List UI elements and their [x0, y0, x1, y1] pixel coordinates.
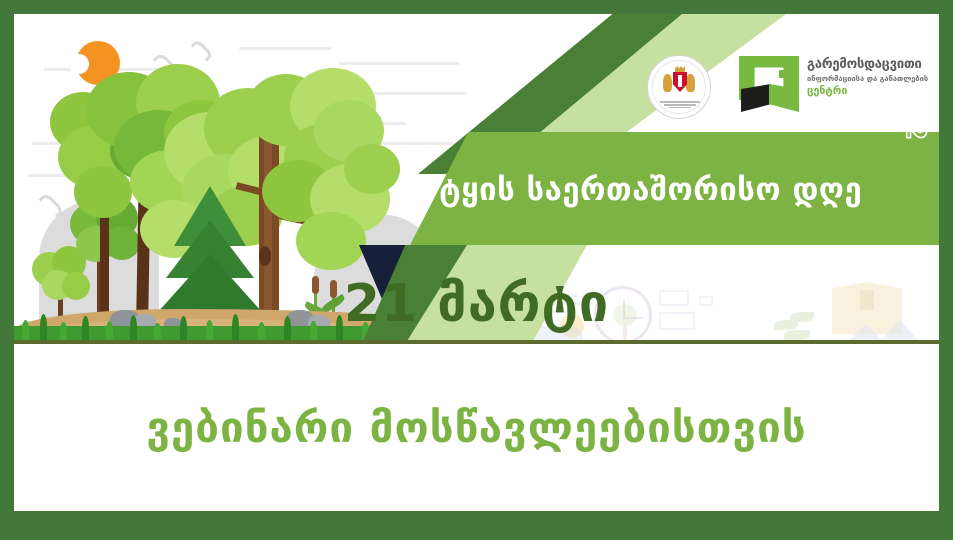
- poster-root: ტყის საერთაშორისო დღე 2022 21 მარტი: [0, 0, 953, 540]
- tree-canopy: [344, 144, 400, 194]
- sky-line: [339, 62, 459, 65]
- poster-canvas: ტყის საერთაშორისო დღე 2022 21 მარტი: [14, 14, 939, 511]
- eiec-line3: ცენტრი: [807, 84, 935, 98]
- tree-canopy: [104, 226, 140, 260]
- bird-icon: [192, 42, 206, 52]
- eiec-line1: გარემოსდაცვითი: [807, 57, 935, 73]
- government-seal-icon: [647, 55, 711, 119]
- bottom-headline: ვებინარი მოსწავლეებისთვის: [14, 344, 939, 511]
- sky-line: [239, 47, 331, 50]
- bottom-section: ვებინარი მოსწავლეებისთვის: [14, 344, 939, 511]
- logo-lockup: გარემოსდაცვითი ინფორმაციისა და განათლები…: [647, 52, 932, 122]
- eiec-line2: ინფორმაციისა და განათლების: [807, 73, 935, 84]
- banner-title: ტყის საერთაშორისო დღე: [439, 164, 899, 216]
- hero-section: ტყის საერთაშორისო დღე 2022 21 მარტი: [14, 14, 939, 340]
- sun-cutout: [69, 54, 89, 74]
- sky-line: [362, 92, 467, 95]
- eiec-logo: გარემოსდაცვითი ინფორმაციისა და განათლები…: [739, 52, 934, 122]
- bird-icon: [40, 196, 56, 207]
- event-date: 21 მარტი: [14, 261, 939, 340]
- eiec-mark-icon: [739, 56, 799, 116]
- tree-canopy: [74, 166, 132, 218]
